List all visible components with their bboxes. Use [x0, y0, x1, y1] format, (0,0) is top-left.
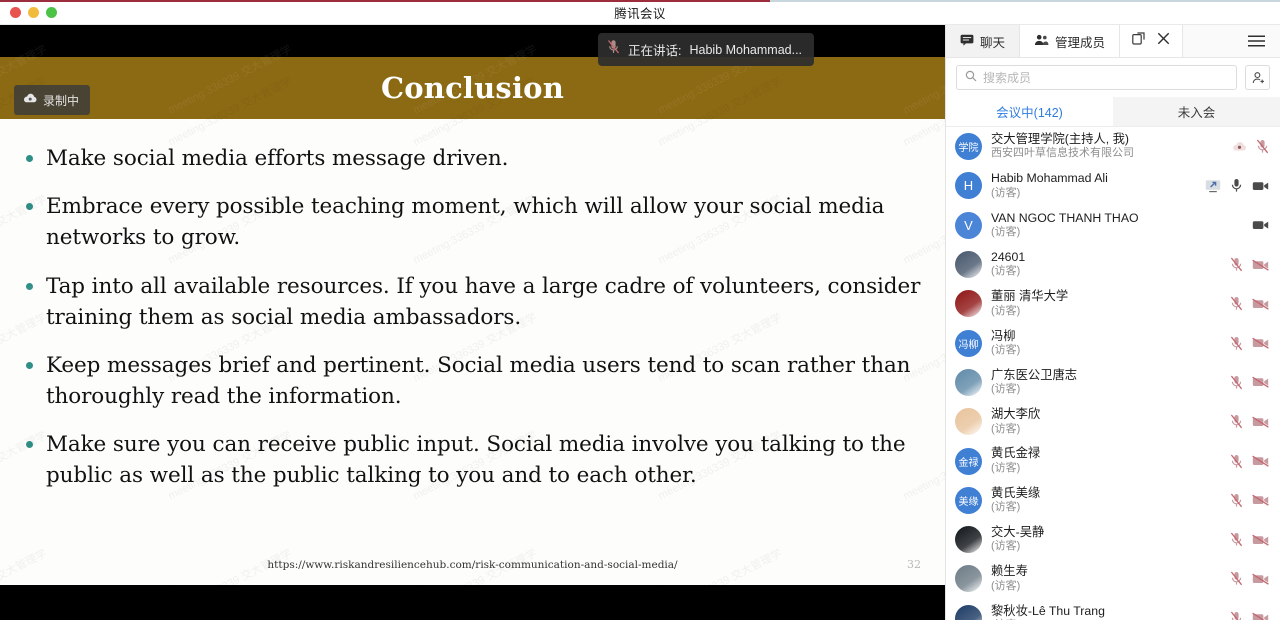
- window-title: 腾讯会议: [0, 3, 1280, 22]
- search-input[interactable]: [983, 71, 1228, 85]
- add-person-icon[interactable]: [1245, 65, 1270, 90]
- participant-status-icons: [1230, 532, 1269, 547]
- camera-muted-icon[interactable]: [1252, 494, 1269, 506]
- participant-status-icons: [1230, 571, 1269, 586]
- list-item[interactable]: 金禄黄氏金禄(访客): [946, 441, 1280, 480]
- participant-role: (访客): [991, 540, 1221, 554]
- participant-info: 黎秋妆-Lê Thu Trang(访客): [991, 604, 1221, 620]
- avatar: 学院: [955, 133, 982, 160]
- avatar: H: [955, 172, 982, 199]
- bullet-text: Tap into all available resources. If you…: [46, 271, 923, 333]
- participant-status-icons: [1230, 454, 1269, 469]
- camera-on-icon[interactable]: [1252, 219, 1269, 231]
- list-item: Keep messages brief and pertinent. Socia…: [26, 350, 923, 412]
- avatar: V: [955, 212, 982, 239]
- camera-muted-icon[interactable]: [1252, 376, 1269, 388]
- mic-muted-icon[interactable]: [1230, 375, 1243, 390]
- mic-on-icon[interactable]: [1230, 178, 1243, 193]
- bullet-text: Make sure you can receive public input. …: [46, 429, 923, 491]
- participant-name: 交大管理学院(主持人, 我): [991, 132, 1223, 147]
- avatar: 美缘: [955, 487, 982, 514]
- participant-name: 黄氏美缘: [991, 486, 1221, 501]
- slide-page-number: 32: [907, 558, 921, 571]
- bullet-dot-icon: [26, 155, 33, 162]
- slide-title: Conclusion: [381, 71, 564, 105]
- segment-not-joined[interactable]: 未入会: [1113, 97, 1280, 126]
- title-bar: 腾讯会议: [0, 0, 1280, 25]
- list-item: Embrace every possible teaching moment, …: [26, 191, 923, 253]
- camera-muted-icon[interactable]: [1252, 337, 1269, 349]
- participant-info: 湖大李欣(访客): [991, 407, 1221, 436]
- avatar: [955, 605, 982, 620]
- list-item: Make social media efforts message driven…: [26, 143, 923, 174]
- list-item[interactable]: 董丽 清华大学(访客): [946, 284, 1280, 323]
- avatar: [955, 565, 982, 592]
- participant-name: 黄氏金禄: [991, 446, 1221, 461]
- participant-filter-tabs: 会议中(142) 未入会: [946, 97, 1280, 127]
- list-item[interactable]: 交大-吴静(访客): [946, 520, 1280, 559]
- slide-bullet-list: Make social media efforts message driven…: [0, 119, 945, 492]
- mic-muted-icon[interactable]: [1230, 336, 1243, 351]
- camera-muted-icon[interactable]: [1252, 573, 1269, 585]
- people-icon: [1034, 34, 1049, 49]
- tab-manage-participants[interactable]: 管理成员: [1020, 25, 1120, 57]
- search-row: [946, 58, 1280, 97]
- camera-muted-icon[interactable]: [1252, 455, 1269, 467]
- panel-tab-bar: 聊天 管理成员: [946, 25, 1280, 58]
- chat-icon: [960, 34, 974, 49]
- tencent-meeting-window: 腾讯会议 Conclusion Make social media effort…: [0, 0, 1280, 620]
- participant-status-icons: [1230, 414, 1269, 429]
- avatar: 金禄: [955, 448, 982, 475]
- camera-muted-icon[interactable]: [1252, 259, 1269, 271]
- search-box[interactable]: [956, 65, 1237, 90]
- participant-info: 董丽 清华大学(访客): [991, 289, 1221, 318]
- slide-source-url: https://www.riskandresiliencehub.com/ris…: [267, 559, 677, 571]
- participant-info: 交大-吴静(访客): [991, 525, 1221, 554]
- speaker-banner-name: Habib Mohammad...: [689, 43, 802, 57]
- avatar: [955, 408, 982, 435]
- close-icon[interactable]: [1157, 32, 1170, 50]
- participant-name: 广东医公卫唐志: [991, 368, 1221, 383]
- avatar: [955, 369, 982, 396]
- participant-name: 黎秋妆-Lê Thu Trang: [991, 604, 1221, 619]
- bullet-text: Keep messages brief and pertinent. Socia…: [46, 350, 923, 412]
- participant-list[interactable]: 学院交大管理学院(主持人, 我)西安四叶草信息技术有限公司HHabib Moha…: [946, 127, 1280, 620]
- participant-role: (访客): [991, 226, 1243, 240]
- participant-info: 冯柳(访客): [991, 329, 1221, 358]
- mic-muted-icon[interactable]: [1230, 414, 1243, 429]
- camera-muted-icon[interactable]: [1252, 416, 1269, 428]
- mic-muted-icon[interactable]: [1230, 454, 1243, 469]
- participant-info: 赖生寿(访客): [991, 564, 1221, 593]
- participant-info: 24601(访客): [991, 250, 1221, 279]
- participant-role: (访客): [991, 580, 1221, 594]
- participant-info: Habib Mohammad Ali(访客): [991, 171, 1196, 200]
- participant-status-icons: [1230, 611, 1269, 620]
- side-panel: 聊天 管理成员: [945, 25, 1280, 620]
- list-item[interactable]: 黎秋妆-Lê Thu Trang(访客): [946, 599, 1280, 620]
- list-item[interactable]: VVAN NGOC THANH THAO(访客): [946, 206, 1280, 245]
- avatar: [955, 290, 982, 317]
- active-speaker-banner: 正在讲话: Habib Mohammad...: [598, 33, 814, 66]
- slide-header: Conclusion: [0, 57, 945, 119]
- participant-role: 西安四叶草信息技术有限公司: [991, 147, 1223, 161]
- participant-info: VAN NGOC THANH THAO(访客): [991, 211, 1243, 240]
- mic-muted-icon[interactable]: [1230, 571, 1243, 586]
- screen-share-icon[interactable]: [1205, 179, 1221, 193]
- participant-name: 赖生寿: [991, 564, 1221, 579]
- bullet-text: Embrace every possible teaching moment, …: [46, 191, 923, 253]
- popout-icon[interactable]: [1132, 32, 1145, 50]
- camera-muted-icon[interactable]: [1252, 612, 1269, 620]
- participant-status-icons: [1252, 219, 1269, 231]
- participant-status-icons: [1205, 178, 1269, 193]
- participant-info: 广东医公卫唐志(访客): [991, 368, 1221, 397]
- bullet-dot-icon: [26, 362, 33, 369]
- panel-tab-spacer: [1183, 25, 1233, 57]
- camera-on-icon[interactable]: [1252, 180, 1269, 192]
- list-item[interactable]: 赖生寿(访客): [946, 559, 1280, 598]
- speaker-banner-label: 正在讲话:: [628, 40, 681, 59]
- search-icon: [965, 69, 977, 87]
- participant-status-icons: [1230, 493, 1269, 508]
- participant-info: 黄氏金禄(访客): [991, 446, 1221, 475]
- participant-name: Habib Mohammad Ali: [991, 171, 1196, 186]
- list-item[interactable]: 广东医公卫唐志(访客): [946, 363, 1280, 402]
- participant-name: 湖大李欣: [991, 407, 1221, 422]
- camera-muted-icon[interactable]: [1252, 534, 1269, 546]
- hamburger-icon[interactable]: [1233, 25, 1280, 57]
- list-item[interactable]: 湖大李欣(访客): [946, 402, 1280, 441]
- avatar: [955, 526, 982, 553]
- participant-role: (访客): [991, 305, 1221, 319]
- mic-muted-icon[interactable]: [1230, 296, 1243, 311]
- list-item[interactable]: HHabib Mohammad Ali(访客): [946, 166, 1280, 205]
- window-top-accent: [0, 0, 770, 2]
- participant-name: 24601: [991, 250, 1221, 265]
- panel-actions: [1120, 25, 1183, 57]
- video-stage: Conclusion Make social media efforts mes…: [0, 25, 945, 620]
- mic-muted-icon[interactable]: [1256, 139, 1269, 154]
- segment-in-meeting[interactable]: 会议中(142): [946, 97, 1113, 126]
- list-item: Make sure you can receive public input. …: [26, 429, 923, 491]
- muted-mic-icon: [607, 39, 620, 60]
- bullet-dot-icon: [26, 283, 33, 290]
- list-item: Tap into all available resources. If you…: [26, 271, 923, 333]
- recording-dot-icon[interactable]: [1232, 140, 1247, 153]
- participant-name: 冯柳: [991, 329, 1221, 344]
- mic-muted-icon[interactable]: [1230, 611, 1243, 620]
- participant-role: (访客): [991, 383, 1221, 397]
- participant-status-icons: [1230, 257, 1269, 272]
- shared-slide: Conclusion Make social media efforts mes…: [0, 57, 945, 585]
- participant-name: 董丽 清华大学: [991, 289, 1221, 304]
- main-body: Conclusion Make social media efforts mes…: [0, 25, 1280, 620]
- camera-muted-icon[interactable]: [1252, 298, 1269, 310]
- mic-muted-icon[interactable]: [1230, 493, 1243, 508]
- participant-info: 黄氏美缘(访客): [991, 486, 1221, 515]
- participant-role: (访客): [991, 423, 1221, 437]
- bullet-text: Make social media efforts message driven…: [46, 143, 508, 174]
- avatar: [955, 251, 982, 278]
- tab-manage-participants-label: 管理成员: [1055, 32, 1105, 51]
- participant-status-icons: [1230, 336, 1269, 351]
- bullet-dot-icon: [26, 203, 33, 210]
- participant-name: VAN NGOC THANH THAO: [991, 211, 1243, 226]
- tab-chat[interactable]: 聊天: [946, 25, 1020, 57]
- mic-muted-icon[interactable]: [1230, 257, 1243, 272]
- window-top-accent-right: [770, 0, 1280, 2]
- participant-status-icons: [1230, 375, 1269, 390]
- recording-label: 录制中: [43, 92, 79, 109]
- tab-chat-label: 聊天: [980, 32, 1005, 51]
- participant-name: 交大-吴静: [991, 525, 1221, 540]
- list-item[interactable]: 学院交大管理学院(主持人, 我)西安四叶草信息技术有限公司: [946, 127, 1280, 166]
- bullet-dot-icon: [26, 441, 33, 448]
- participant-role: (访客): [991, 501, 1221, 515]
- participant-role: (访客): [991, 462, 1221, 476]
- participant-role: (访客): [991, 187, 1196, 201]
- avatar: 冯柳: [955, 330, 982, 357]
- list-item[interactable]: 24601(访客): [946, 245, 1280, 284]
- participant-info: 交大管理学院(主持人, 我)西安四叶草信息技术有限公司: [991, 132, 1223, 161]
- recording-badge: 录制中: [14, 85, 90, 115]
- recording-icon: [23, 91, 37, 109]
- participant-status-icons: [1232, 139, 1269, 154]
- participant-status-icons: [1230, 296, 1269, 311]
- list-item[interactable]: 美缘黄氏美缘(访客): [946, 481, 1280, 520]
- participant-role: (访客): [991, 265, 1221, 279]
- list-item[interactable]: 冯柳冯柳(访客): [946, 323, 1280, 362]
- participant-role: (访客): [991, 344, 1221, 358]
- mic-muted-icon[interactable]: [1230, 532, 1243, 547]
